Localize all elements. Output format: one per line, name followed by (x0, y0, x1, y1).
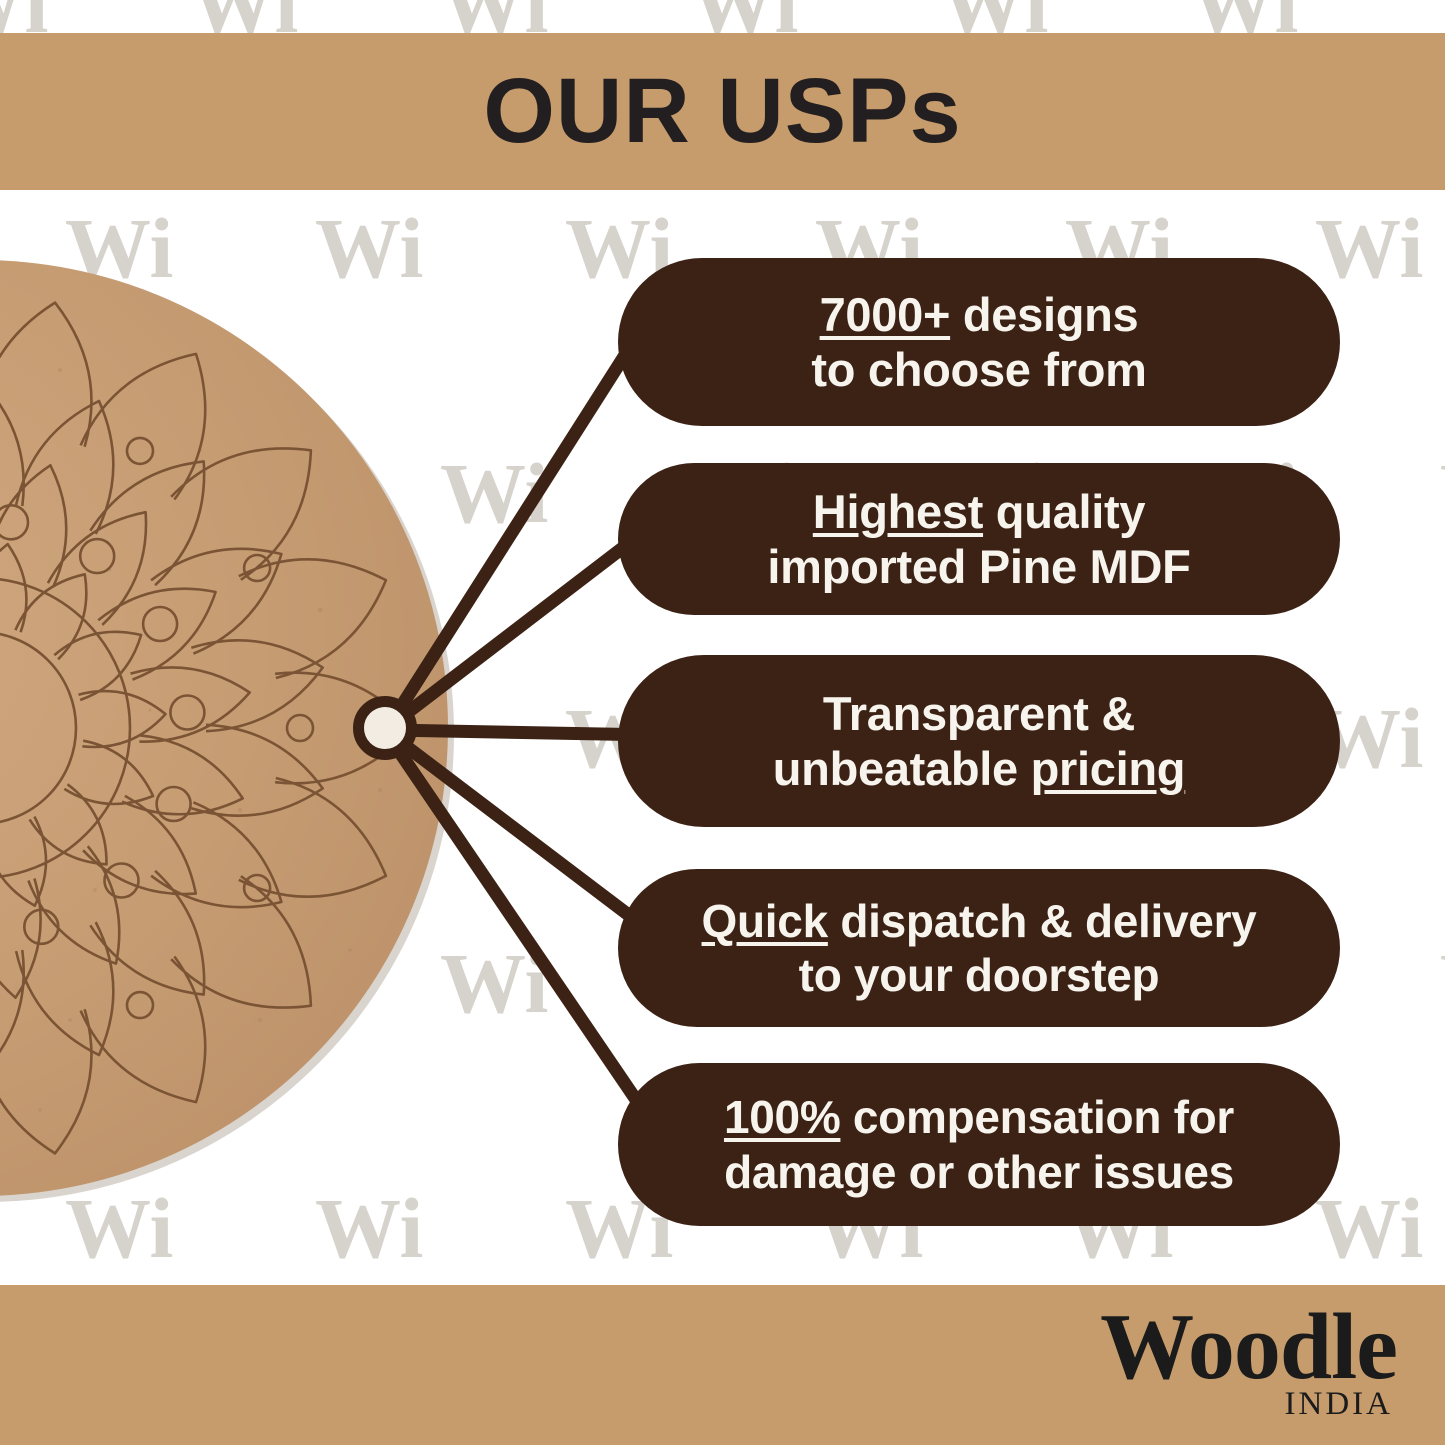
usp-pill-designs-text: 7000+ designsto choose from (811, 287, 1146, 398)
usp-pill-quality[interactable]: Highest qualityimported Pine MDF (618, 463, 1340, 615)
usp-pill-pricing-text: Transparent &unbeatable pricing (773, 686, 1185, 797)
page-title: OUR USPs (0, 33, 1445, 190)
usp-pill-list: 7000+ designsto choose from Highest qual… (0, 0, 1445, 1445)
usp-pill-designs[interactable]: 7000+ designsto choose from (618, 258, 1340, 426)
usp-pill-compensation-text: 100% compensation fordamage or other iss… (724, 1090, 1234, 1199)
usp-pill-quality-text: Highest qualityimported Pine MDF (767, 484, 1190, 595)
brand-logo: Woodle INDIA (1100, 1300, 1397, 1421)
usp-infographic: WiWiWiWiWiWiWiWiWiWiWiWiWiWiWiWiWiWiWiWi… (0, 0, 1445, 1445)
brand-logo-word: Woodle (1100, 1300, 1397, 1394)
hub-node (353, 696, 417, 760)
usp-pill-compensation[interactable]: 100% compensation fordamage or other iss… (618, 1063, 1340, 1226)
usp-pill-dispatch-text: Quick dispatch & deliveryto your doorste… (702, 894, 1257, 1003)
usp-pill-dispatch[interactable]: Quick dispatch & deliveryto your doorste… (618, 869, 1340, 1027)
usp-pill-pricing[interactable]: Transparent &unbeatable pricing (618, 655, 1340, 827)
